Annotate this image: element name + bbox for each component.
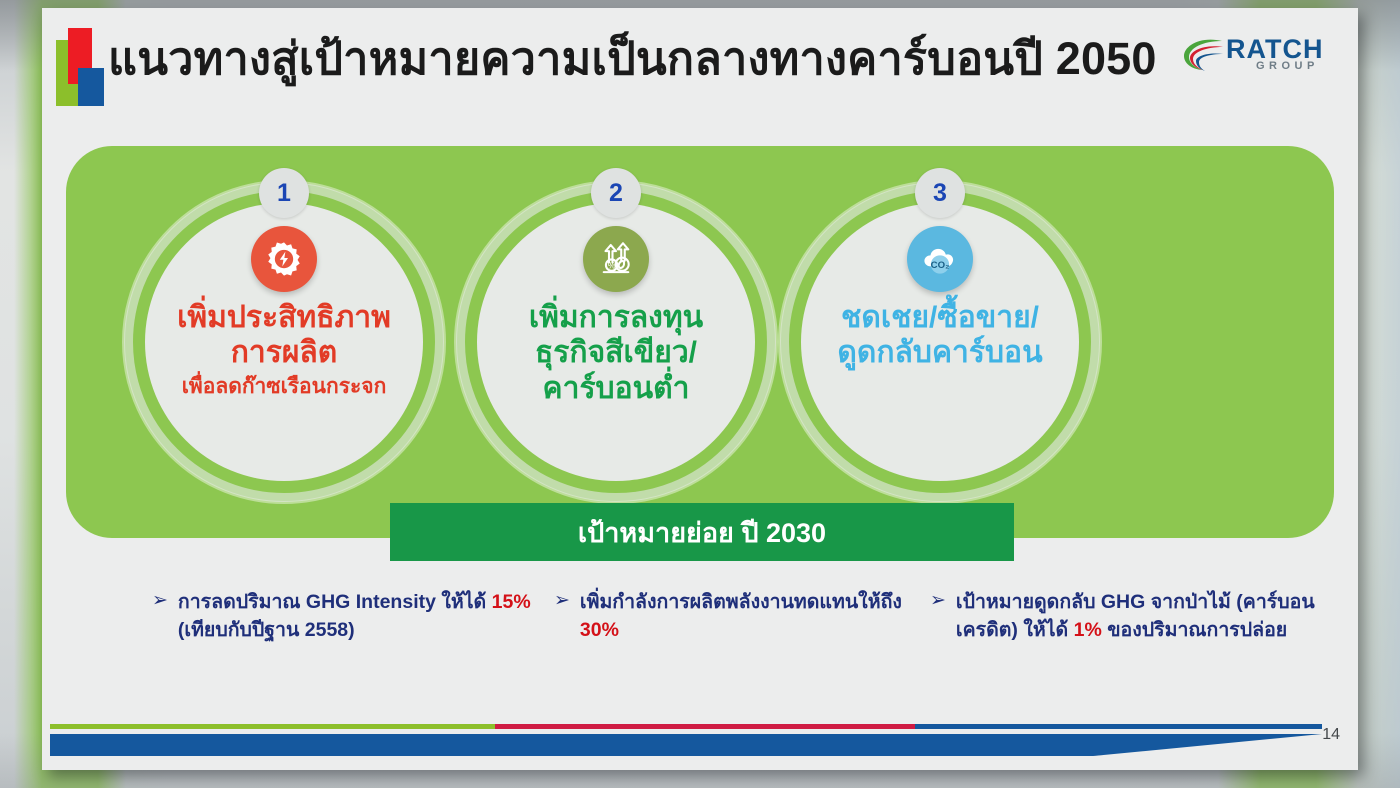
bullet-text: เป้าหมายดูดกลับ GHG จากป่าไม้ (คาร์บอนเค… xyxy=(956,588,1330,645)
ratch-group-logo: RATCH GROUP xyxy=(1182,32,1334,80)
slide-canvas: แนวทางสู่เป้าหมายความเป็นกลางทางคาร์บอนป… xyxy=(42,8,1358,770)
node-label: เพิ่มประสิทธิภาพ การผลิต เพื่อลดก๊าซเรือ… xyxy=(124,300,444,400)
bullet-text: เพิ่มกำลังการผลิตพลังงานทดแทนให้ถึง 30% xyxy=(580,588,914,645)
bullet-text-post: (เทียบกับปีฐาน 2558) xyxy=(178,619,355,641)
bullet-item: ➢ เป้าหมายดูดกลับ GHG จากป่าไม้ (คาร์บอน… xyxy=(930,588,1330,645)
gear-lightning-icon xyxy=(251,226,317,292)
strategy-node-2[interactable]: 2 % เพิ่มการลงทุน ธุรกิจสีเขียว/ xyxy=(456,164,776,520)
node-number-badge: 2 xyxy=(591,168,641,218)
bullet-text: การลดปริมาณ GHG Intensity ให้ได้ 15% (เท… xyxy=(178,588,532,645)
arrow-bullet-icon: ➢ xyxy=(152,588,168,645)
footer-bar xyxy=(50,734,1322,756)
title-row: แนวทางสู่เป้าหมายความเป็นกลางทางคาร์บอนป… xyxy=(50,22,1358,114)
svg-text:CO₂: CO₂ xyxy=(931,260,950,271)
arrow-bullet-icon: ➢ xyxy=(554,588,570,645)
strategy-node-1[interactable]: 1 เพิ่มประสิทธิภาพ การผลิต เพื่อลดก๊าซเร… xyxy=(124,164,444,520)
bullet-highlight: 15% xyxy=(492,591,531,613)
node-label: ชดเชย/ซื้อขาย/ ดูดกลับคาร์บอน xyxy=(780,300,1100,371)
growth-leaf-percent-icon: % xyxy=(583,226,649,292)
page-number: 14 xyxy=(1322,726,1340,744)
ratch-swoosh-icon xyxy=(1182,38,1226,72)
strategy-node-3[interactable]: 3 CO₂ ชดเชย/ซื้อขาย/ ดูดกลับคาร์บอน xyxy=(780,164,1100,520)
node-line2: ดูดกลับคาร์บอน xyxy=(780,335,1100,370)
node-line1: ชดเชย/ซื้อขาย/ xyxy=(780,300,1100,335)
subtarget-banner: เป้าหมายย่อย ปี 2030 xyxy=(390,503,1014,561)
node-line2: การผลิต xyxy=(124,335,444,370)
node-sub: เพื่อลดก๊าซเรือนกระจก xyxy=(124,375,444,400)
bullet-highlight: 30% xyxy=(580,619,619,641)
ratch-bars-icon xyxy=(54,28,102,106)
bullet-text-pre: การลดปริมาณ GHG Intensity ให้ได้ xyxy=(178,591,492,613)
node-number-badge: 1 xyxy=(259,168,309,218)
strategy-panel: 1 เพิ่มประสิทธิภาพ การผลิต เพื่อลดก๊าซเร… xyxy=(66,146,1334,538)
co2-cloud-icon: CO₂ xyxy=(907,226,973,292)
ratch-group-sub: GROUP xyxy=(1256,60,1319,72)
node-number-badge: 3 xyxy=(915,168,965,218)
node-line2: ธุรกิจสีเขียว/ xyxy=(456,335,776,370)
bullet-item: ➢ เพิ่มกำลังการผลิตพลังงานทดแทนให้ถึง 30… xyxy=(554,588,914,645)
arrow-bullet-icon: ➢ xyxy=(930,588,946,645)
svg-text:%: % xyxy=(608,261,616,271)
subtarget-banner-label: เป้าหมายย่อย ปี 2030 xyxy=(578,511,826,554)
page-title: แนวทางสู่เป้าหมายความเป็นกลางทางคาร์บอนป… xyxy=(108,22,1157,94)
node-label: เพิ่มการลงทุน ธุรกิจสีเขียว/ คาร์บอนต่ำ xyxy=(456,300,776,406)
bullet-item: ➢ การลดปริมาณ GHG Intensity ให้ได้ 15% (… xyxy=(152,588,532,645)
bullet-text-pre: เพิ่มกำลังการผลิตพลังงานทดแทนให้ถึง xyxy=(580,591,902,613)
node-line1: เพิ่มการลงทุน xyxy=(456,300,776,335)
footer-stripe xyxy=(50,724,1322,729)
bullet-text-post: ของปริมาณการปล่อย xyxy=(1102,619,1287,641)
node-line1: เพิ่มประสิทธิภาพ xyxy=(124,300,444,335)
node-sub: คาร์บอนต่ำ xyxy=(456,371,776,406)
bullet-highlight: 1% xyxy=(1074,619,1102,641)
bullet-list: ➢ การลดปริมาณ GHG Intensity ให้ได้ 15% (… xyxy=(42,578,1358,678)
